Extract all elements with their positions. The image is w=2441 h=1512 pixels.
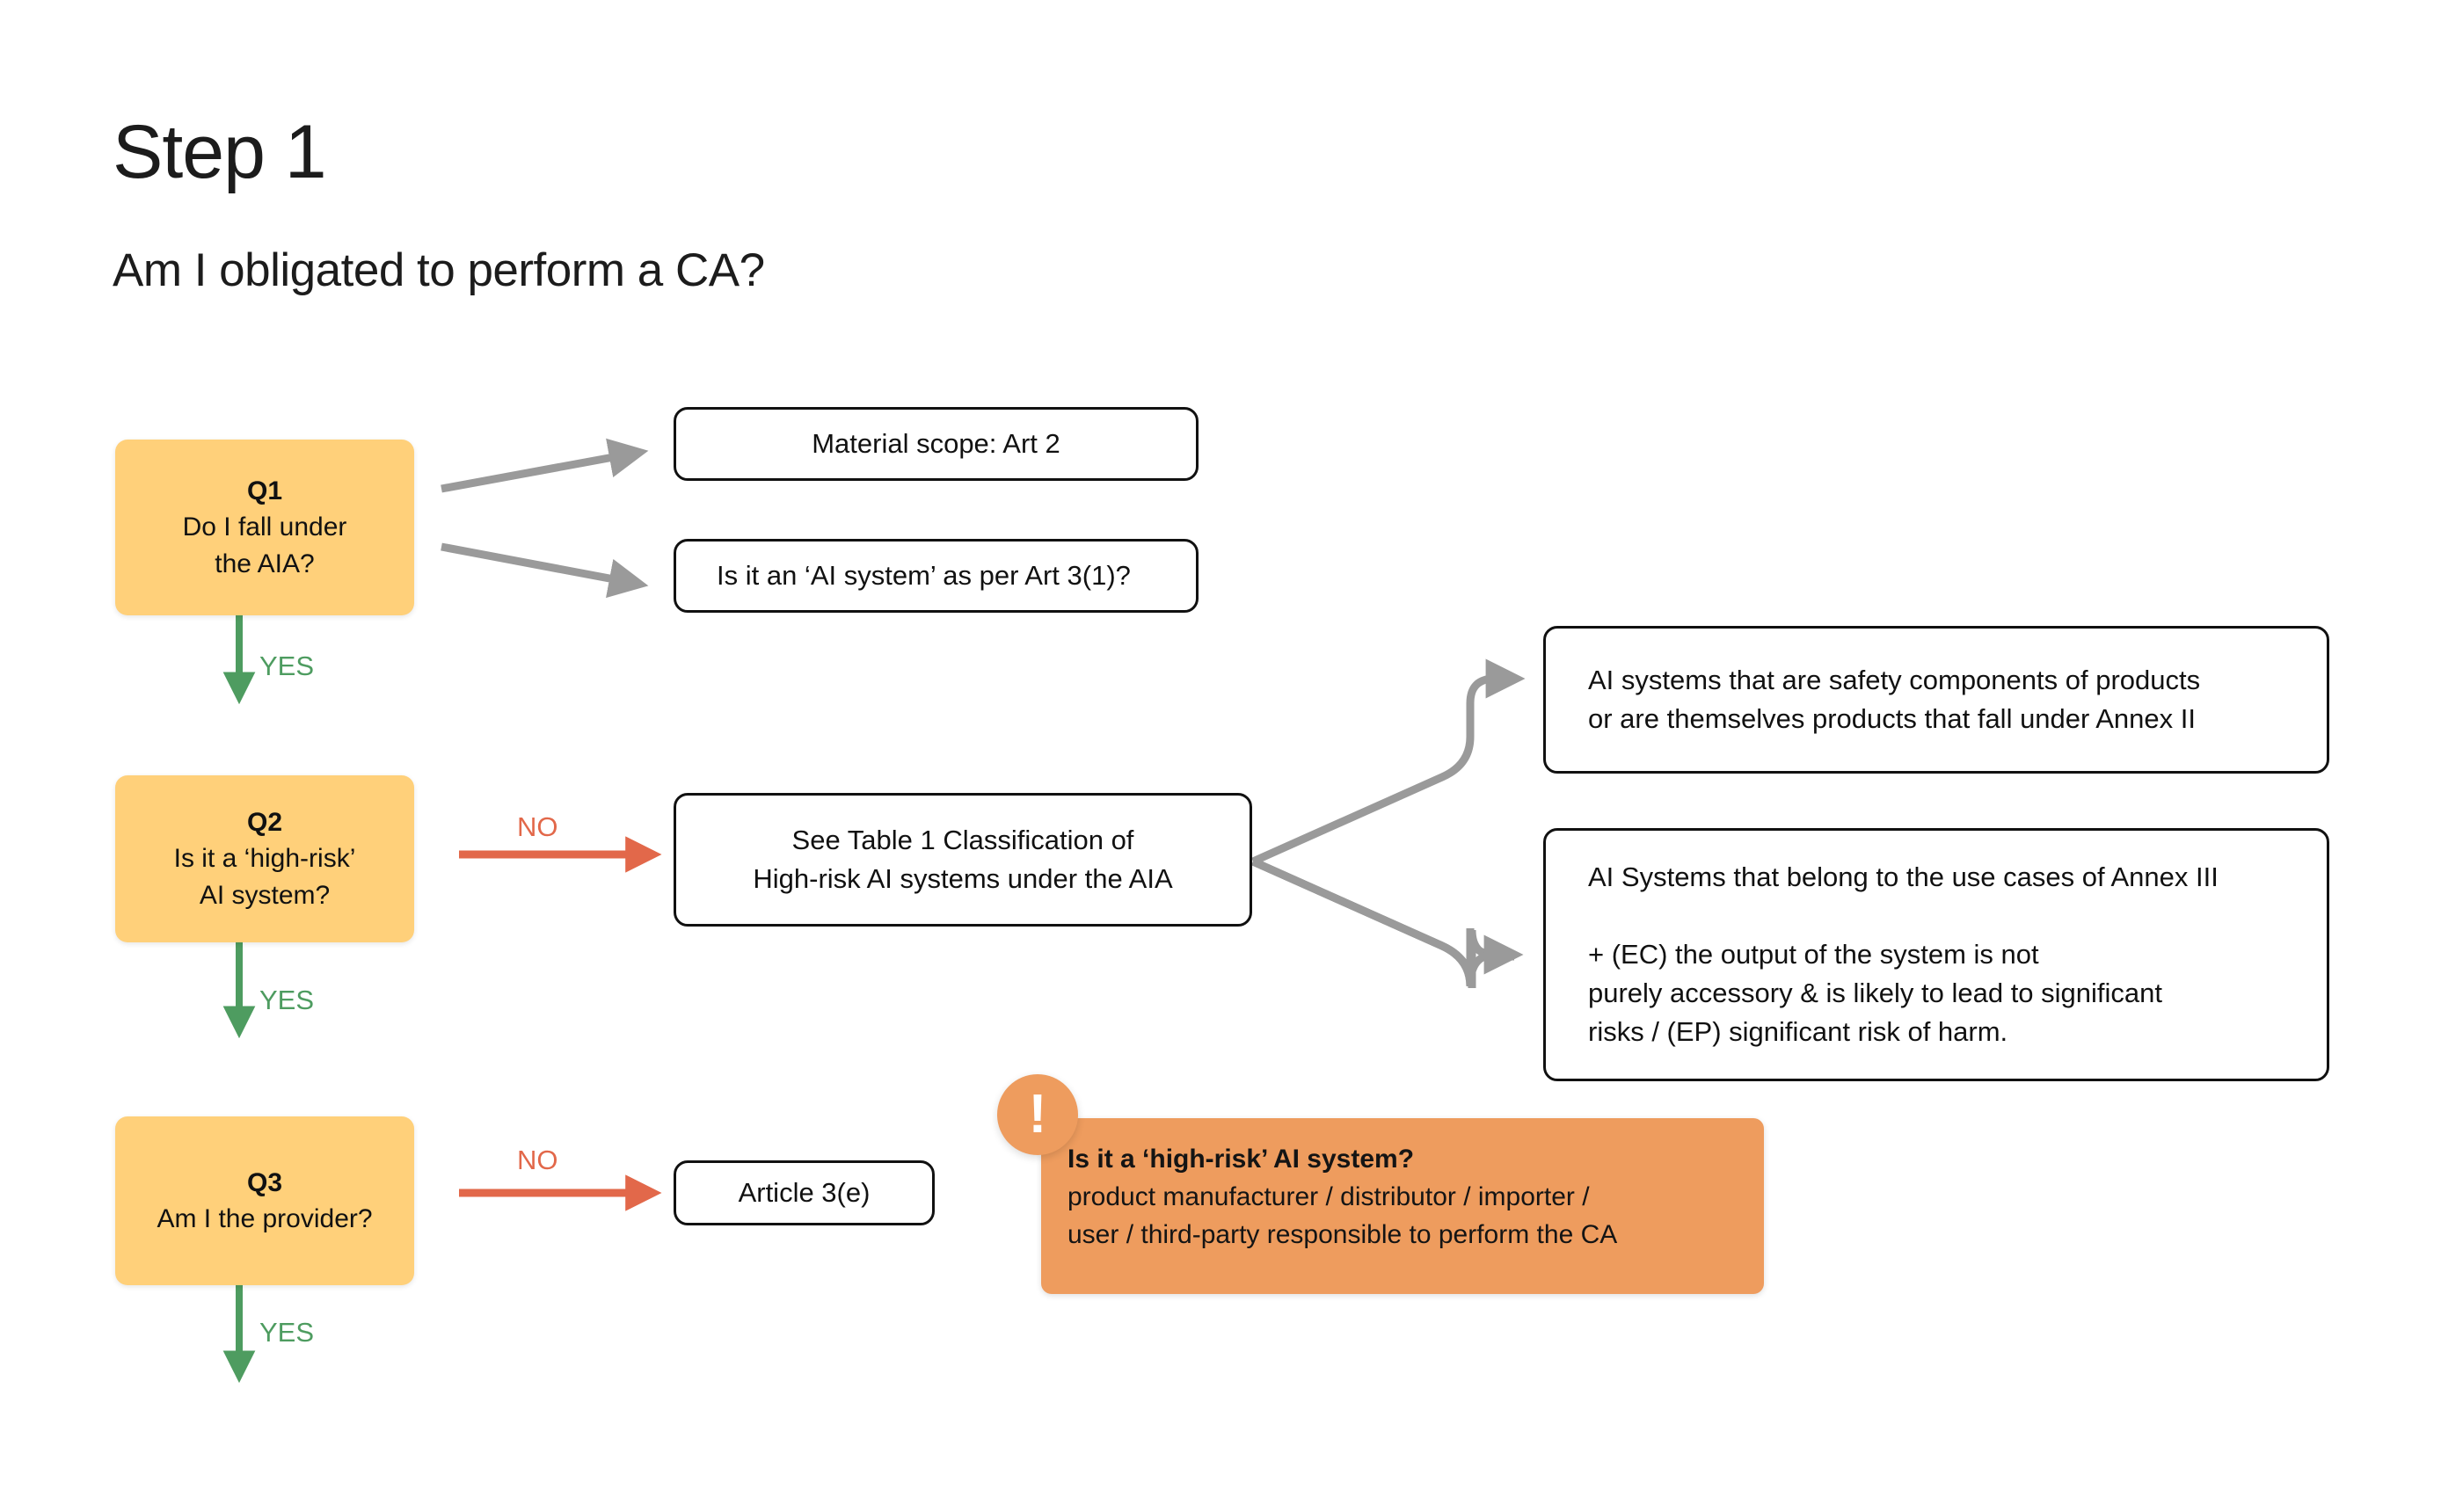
- article-3e-text: Article 3(e): [739, 1174, 871, 1212]
- ai-system-definition-text: Is it an ‘AI system’ as per Art 3(1)?: [717, 556, 1131, 595]
- badge-glyph: !: [1029, 1087, 1047, 1142]
- annex2-line-1: AI systems that are safety components of…: [1588, 661, 2200, 700]
- box-annex2[interactable]: AI systems that are safety components of…: [1543, 626, 2329, 774]
- annex3-line-1: AI Systems that belong to the use cases …: [1588, 858, 2219, 897]
- label-q3-no: NO: [517, 1146, 558, 1174]
- q2-line-2: AI system?: [200, 877, 330, 913]
- arrow-q1-to-ai-system-definition: [441, 547, 638, 584]
- q2-line-1: Is it a ‘high-risk’: [174, 840, 356, 876]
- arrow-table1-to-annex3-tail: [1253, 861, 1514, 988]
- box-material-scope[interactable]: Material scope: Art 2: [674, 407, 1199, 481]
- callout-provider-roles: Is it a ‘high-risk’ AI system? product m…: [1041, 1118, 1764, 1294]
- annex3-line-2: [1588, 897, 1596, 935]
- page-title: Step 1: [113, 114, 326, 190]
- question-box-q3[interactable]: Q3 Am I the provider?: [115, 1116, 414, 1285]
- arrow-table1-to-annex3: [1253, 861, 1514, 986]
- q1-line-1: Do I fall under: [183, 509, 347, 545]
- box-ai-system-definition[interactable]: Is it an ‘AI system’ as per Art 3(1)?: [674, 539, 1199, 613]
- arrow-table1-to-annex3-curve: [1253, 861, 1512, 986]
- arrow-table1-to-annex2: [1253, 679, 1514, 861]
- diagram-canvas: Step 1 Am I obligated to perform a CA?: [0, 0, 2441, 1512]
- annex3-line-4: purely accessory & is likely to lead to …: [1588, 974, 2162, 1013]
- label-q3-yes: YES: [259, 1319, 314, 1346]
- annex3-line-3: + (EC) the output of the system is not: [1588, 935, 2039, 974]
- table1-line-2: High-risk AI systems under the AIA: [753, 860, 1172, 898]
- annex3-line-5: risks / (EP) significant risk of harm.: [1588, 1013, 2007, 1051]
- box-article-3e[interactable]: Article 3(e): [674, 1160, 935, 1225]
- arrow-q1-to-material-scope: [441, 453, 638, 489]
- box-table1-classification[interactable]: See Table 1 Classification of High-risk …: [674, 793, 1252, 927]
- box-annex3[interactable]: AI Systems that belong to the use cases …: [1543, 828, 2329, 1081]
- q3-line-1: Am I the provider?: [157, 1201, 372, 1237]
- warning-exclamation-icon: !: [997, 1074, 1078, 1155]
- callout-line-2: product manufacturer / distributor / imp…: [1067, 1179, 1738, 1217]
- label-q2-yes: YES: [259, 986, 314, 1014]
- annex2-line-2: or are themselves products that fall und…: [1588, 700, 2196, 738]
- page-subtitle: Am I obligated to perform a CA?: [113, 247, 765, 294]
- label-q2-no: NO: [517, 813, 558, 840]
- q3-id: Q3: [247, 1165, 282, 1201]
- q1-id: Q1: [247, 473, 282, 509]
- q2-id: Q2: [247, 804, 282, 840]
- question-box-q2[interactable]: Q2 Is it a ‘high-risk’ AI system?: [115, 775, 414, 942]
- material-scope-text: Material scope: Art 2: [812, 425, 1060, 463]
- label-q1-yes: YES: [259, 652, 314, 680]
- callout-line-3: user / third-party responsible to perfor…: [1067, 1217, 1738, 1254]
- table1-line-1: See Table 1 Classification of: [792, 821, 1134, 860]
- question-box-q1[interactable]: Q1 Do I fall under the AIA?: [115, 440, 414, 615]
- callout-title: Is it a ‘high-risk’ AI system?: [1067, 1141, 1738, 1179]
- q1-line-2: the AIA?: [215, 546, 314, 582]
